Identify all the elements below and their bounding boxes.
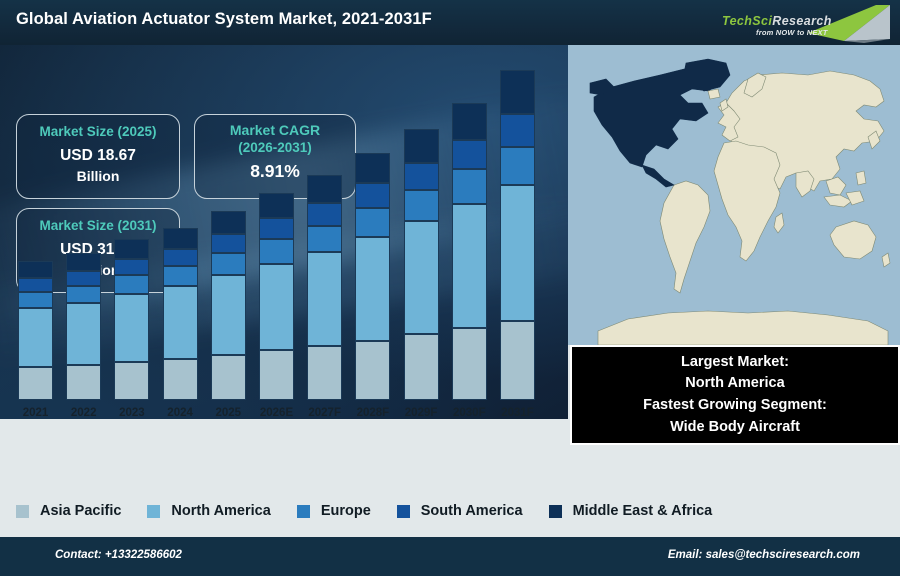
bar-segment [18, 261, 53, 278]
x-axis-label-2031F: 2031F [490, 407, 546, 419]
bar-2025 [211, 211, 246, 400]
legend-swatch-icon [297, 505, 310, 518]
logo-wordmark: TechSciResearch [722, 15, 872, 28]
legend-item[interactable]: Middle East & Africa [549, 503, 713, 519]
legend-swatch-icon [147, 505, 160, 518]
bar-segment [18, 278, 53, 292]
header-bar: Global Aviation Actuator System Market, … [0, 0, 900, 45]
legend-label: South America [421, 503, 523, 519]
bar-segment [404, 129, 439, 163]
bar-segment [211, 211, 246, 234]
bar-segment [211, 275, 246, 354]
legend-swatch-icon [549, 505, 562, 518]
x-axis-labels: 202120222023202420252026E2027F2028F2029F… [0, 400, 568, 419]
bar-segment [211, 253, 246, 275]
bar-segment [452, 328, 487, 400]
largest-market-value: North America [685, 373, 784, 395]
bar-segment [211, 355, 246, 400]
infographic-page: Global Aviation Actuator System Market, … [0, 0, 900, 576]
bar-segment [66, 286, 101, 303]
bar-segment [452, 103, 487, 140]
bar-segment [114, 259, 149, 275]
fastest-growing-segment-value: Wide Body Aircraft [670, 417, 800, 439]
bar-segment [163, 286, 198, 359]
bar-segment [452, 169, 487, 204]
bar-segment [66, 365, 101, 400]
bar-segment [500, 147, 535, 185]
legend-swatch-icon [16, 505, 29, 518]
bar-2026E [259, 193, 294, 400]
bar-segment [355, 183, 390, 207]
bar-segment [307, 226, 342, 252]
bar-segment [259, 193, 294, 218]
bar-segment [500, 321, 535, 400]
legend-item[interactable]: Asia Pacific [16, 503, 121, 519]
bar-segment [355, 153, 390, 184]
key-insights-box: Largest Market: North America Fastest Gr… [570, 345, 900, 445]
bar-segment [307, 252, 342, 346]
bar-segment [18, 308, 53, 367]
bar-segment [163, 266, 198, 286]
legend-label: Middle East & Africa [573, 503, 713, 519]
chart-legend: Asia PacificNorth AmericaEuropeSouth Ame… [0, 485, 900, 537]
bar-segment [259, 218, 294, 239]
bar-segment [66, 303, 101, 365]
bar-segment [259, 239, 294, 263]
bar-segment [66, 271, 101, 286]
bar-segment [259, 350, 294, 400]
bar-segment [404, 190, 439, 222]
bar-segment [500, 185, 535, 320]
page-title: Global Aviation Actuator System Market, … [16, 10, 432, 29]
bar-2028F [355, 153, 390, 400]
bar-segment [114, 362, 149, 400]
bar-segment [163, 249, 198, 266]
bar-2023 [114, 239, 149, 400]
bar-segment [404, 221, 439, 334]
email-info: Email: sales@techsciresearch.com [668, 549, 860, 561]
legend-label: North America [171, 503, 270, 519]
bar-2021 [18, 261, 53, 400]
bar-segment [355, 208, 390, 238]
bar-segment [355, 341, 390, 400]
bar-segment [163, 228, 198, 249]
contact-info: Contact: +13322586602 [55, 549, 182, 561]
bar-2022 [66, 253, 101, 400]
logo-tagline: from NOW to NEXT [756, 28, 828, 37]
bar-segment [66, 253, 101, 271]
x-axis-strip [0, 419, 568, 445]
bar-segment [307, 346, 342, 400]
bar-segment [259, 264, 294, 351]
bar-2027F [307, 175, 342, 400]
bar-segment [404, 163, 439, 189]
legend-swatch-icon [397, 505, 410, 518]
world-map [568, 45, 900, 345]
bar-2024 [163, 228, 198, 400]
bar-segment [114, 294, 149, 362]
legend-item[interactable]: Europe [297, 503, 371, 519]
largest-market-label: Largest Market: [681, 352, 789, 374]
bar-segment [307, 175, 342, 204]
bar-2029F [404, 129, 439, 400]
bar-2030F [452, 103, 487, 400]
bar-segment [307, 203, 342, 225]
bar-segment [452, 204, 487, 328]
logo-tech-text: TechSci [722, 14, 772, 28]
bar-segment [500, 70, 535, 114]
world-map-svg [568, 45, 900, 345]
legend-item[interactable]: South America [397, 503, 523, 519]
legend-label: Asia Pacific [40, 503, 121, 519]
bar-segment [114, 239, 149, 259]
bar-segment [163, 359, 198, 400]
bar-segment [452, 140, 487, 170]
chart-panel: Market Size (2025) USD 18.67 Billion Mar… [0, 45, 568, 445]
stacked-bar-chart [0, 45, 568, 445]
bar-segment [18, 292, 53, 308]
footer-bar: Contact: +13322586602 Email: sales@techs… [0, 537, 900, 576]
legend-label: Europe [321, 503, 371, 519]
bar-segment [404, 334, 439, 400]
map-landmass-philippines [856, 171, 866, 185]
bar-segment [500, 114, 535, 147]
bar-segment [114, 275, 149, 294]
logo-research-text: Research [772, 14, 832, 28]
bar-segment [18, 367, 53, 400]
legend-item[interactable]: North America [147, 503, 270, 519]
fastest-growing-segment-label: Fastest Growing Segment: [643, 395, 827, 417]
bar-segment [355, 237, 390, 341]
bar-2031F [500, 70, 535, 400]
bar-segment [211, 234, 246, 253]
map-landmass-iceland [708, 89, 720, 99]
techsci-research-logo: TechSciResearch from NOW to NEXT [716, 2, 892, 44]
